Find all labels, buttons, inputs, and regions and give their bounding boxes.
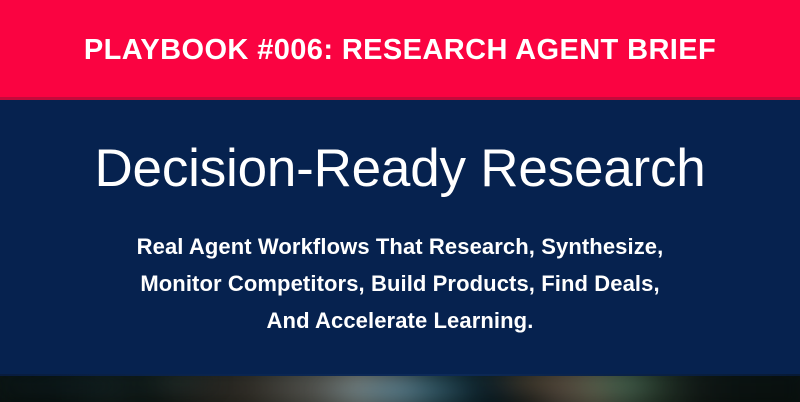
hero-subtitle: Real Agent Workflows That Research, Synt… — [0, 228, 800, 339]
photo-top-seam — [0, 374, 800, 376]
hero-title: Decision-Ready Research — [0, 140, 800, 197]
slide-canvas: PLAYBOOK #006: RESEARCH AGENT BRIEF Deci… — [0, 0, 800, 402]
footer-photo-strip — [0, 374, 800, 402]
hero-subtitle-line-1: Real Agent Workflows That Research, Synt… — [0, 228, 800, 265]
top-banner: PLAYBOOK #006: RESEARCH AGENT BRIEF — [0, 0, 800, 100]
photo-shade-layer — [0, 374, 800, 402]
banner-bottom-rule — [0, 97, 800, 100]
hero-subtitle-line-3: And Accelerate Learning. — [0, 302, 800, 339]
hero-subtitle-line-2: Monitor Competitors, Build Products, Fin… — [0, 265, 800, 302]
banner-title: PLAYBOOK #006: RESEARCH AGENT BRIEF — [84, 36, 716, 65]
